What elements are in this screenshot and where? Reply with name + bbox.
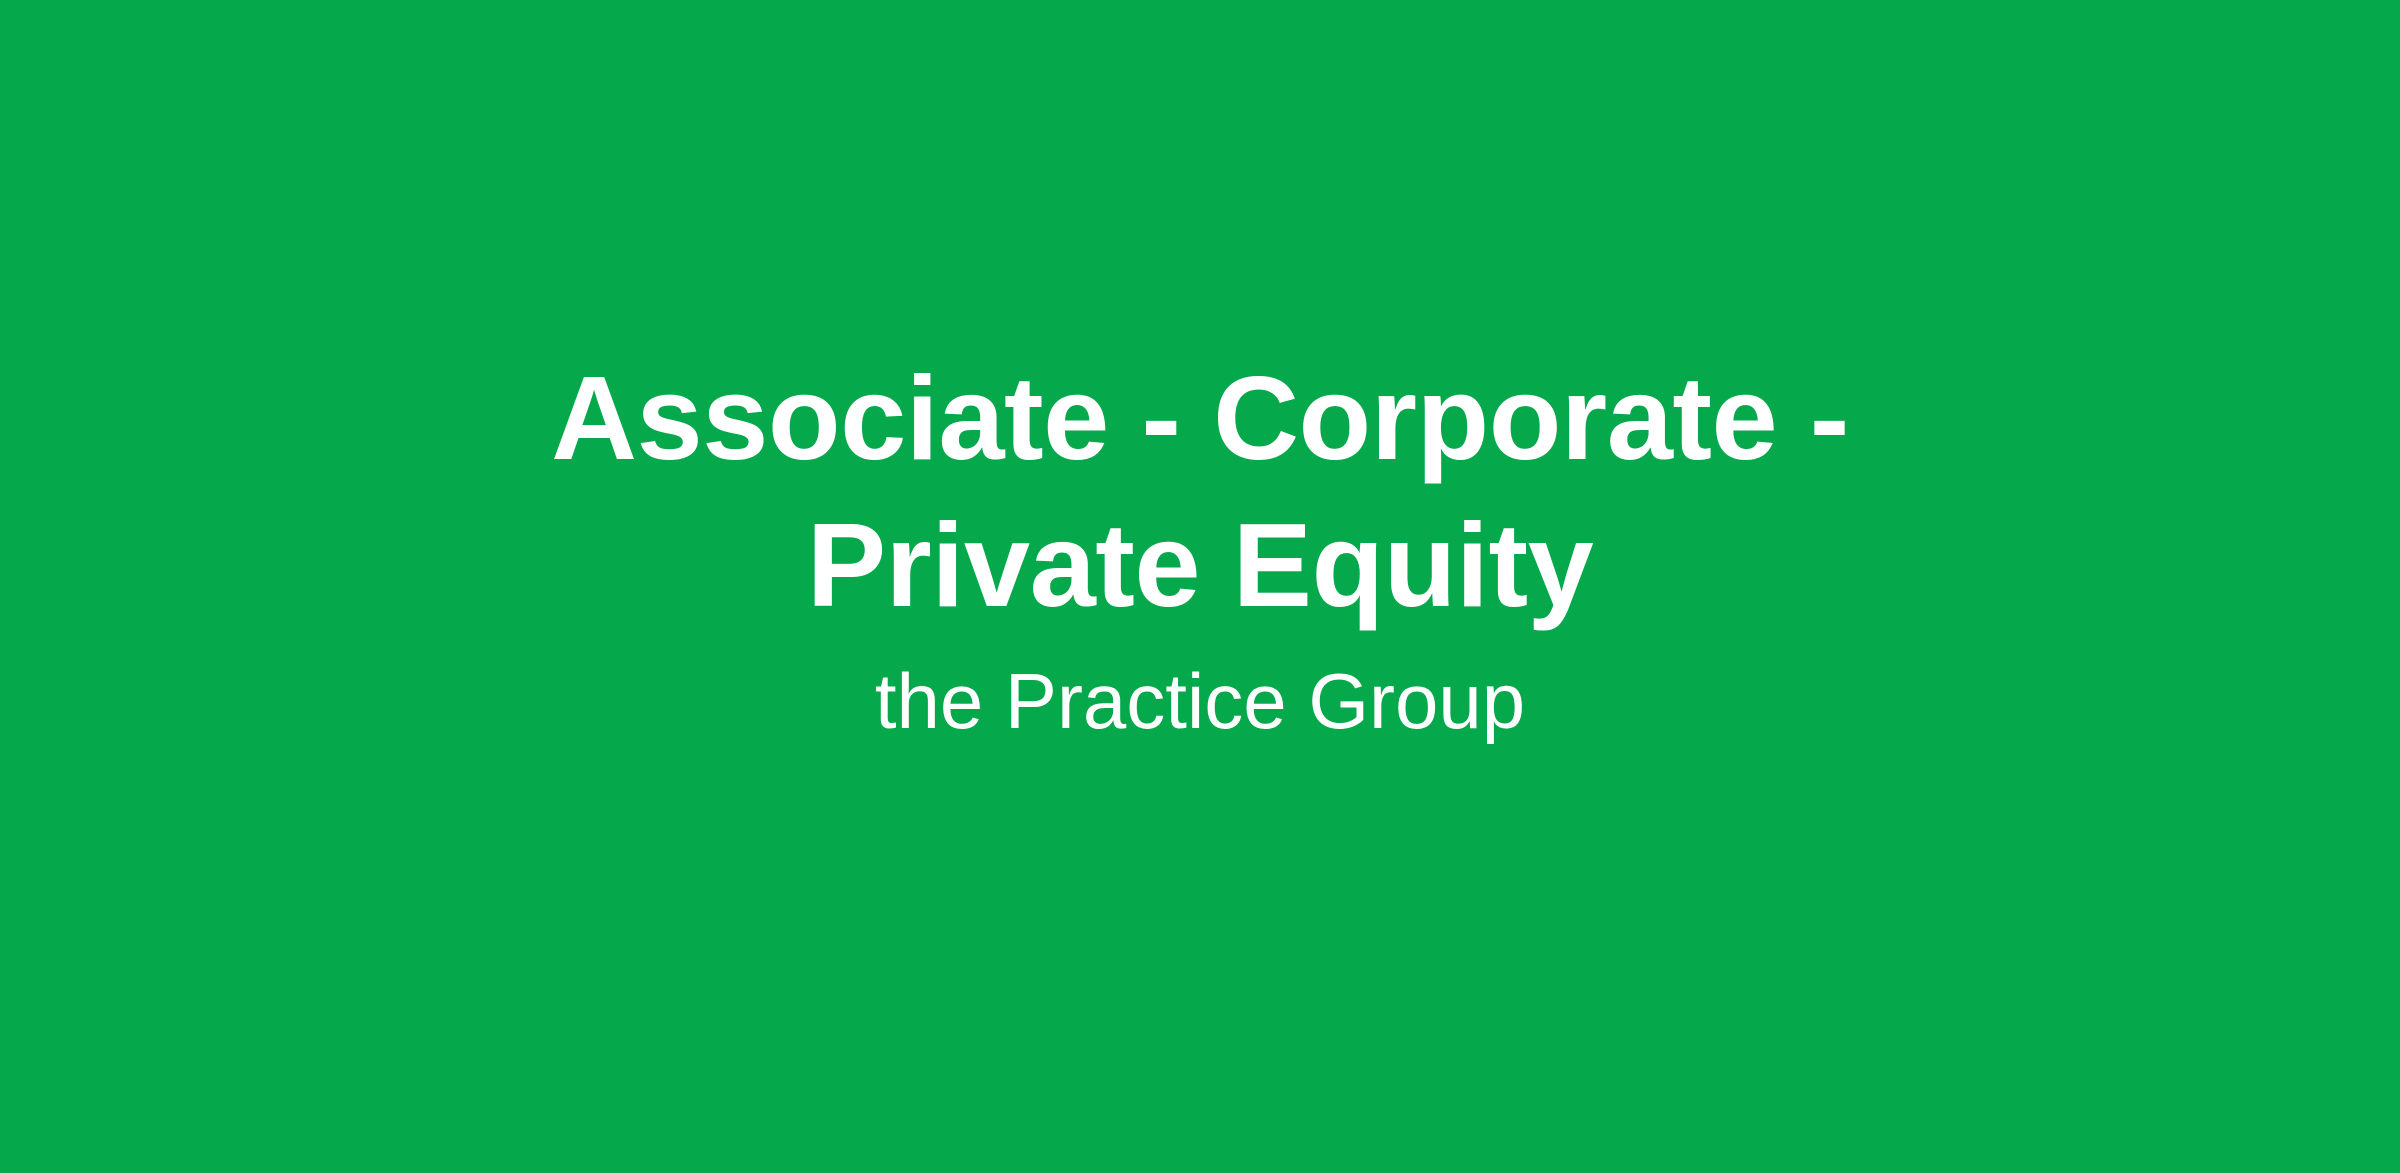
hero-text-block: Associate - Corporate - Private Equity t… [350, 345, 2050, 749]
hero-banner: Associate - Corporate - Private Equity t… [0, 0, 2400, 1173]
page-title: Associate - Corporate - Private Equity [350, 345, 2050, 639]
page-subtitle: the Practice Group [875, 639, 1525, 749]
